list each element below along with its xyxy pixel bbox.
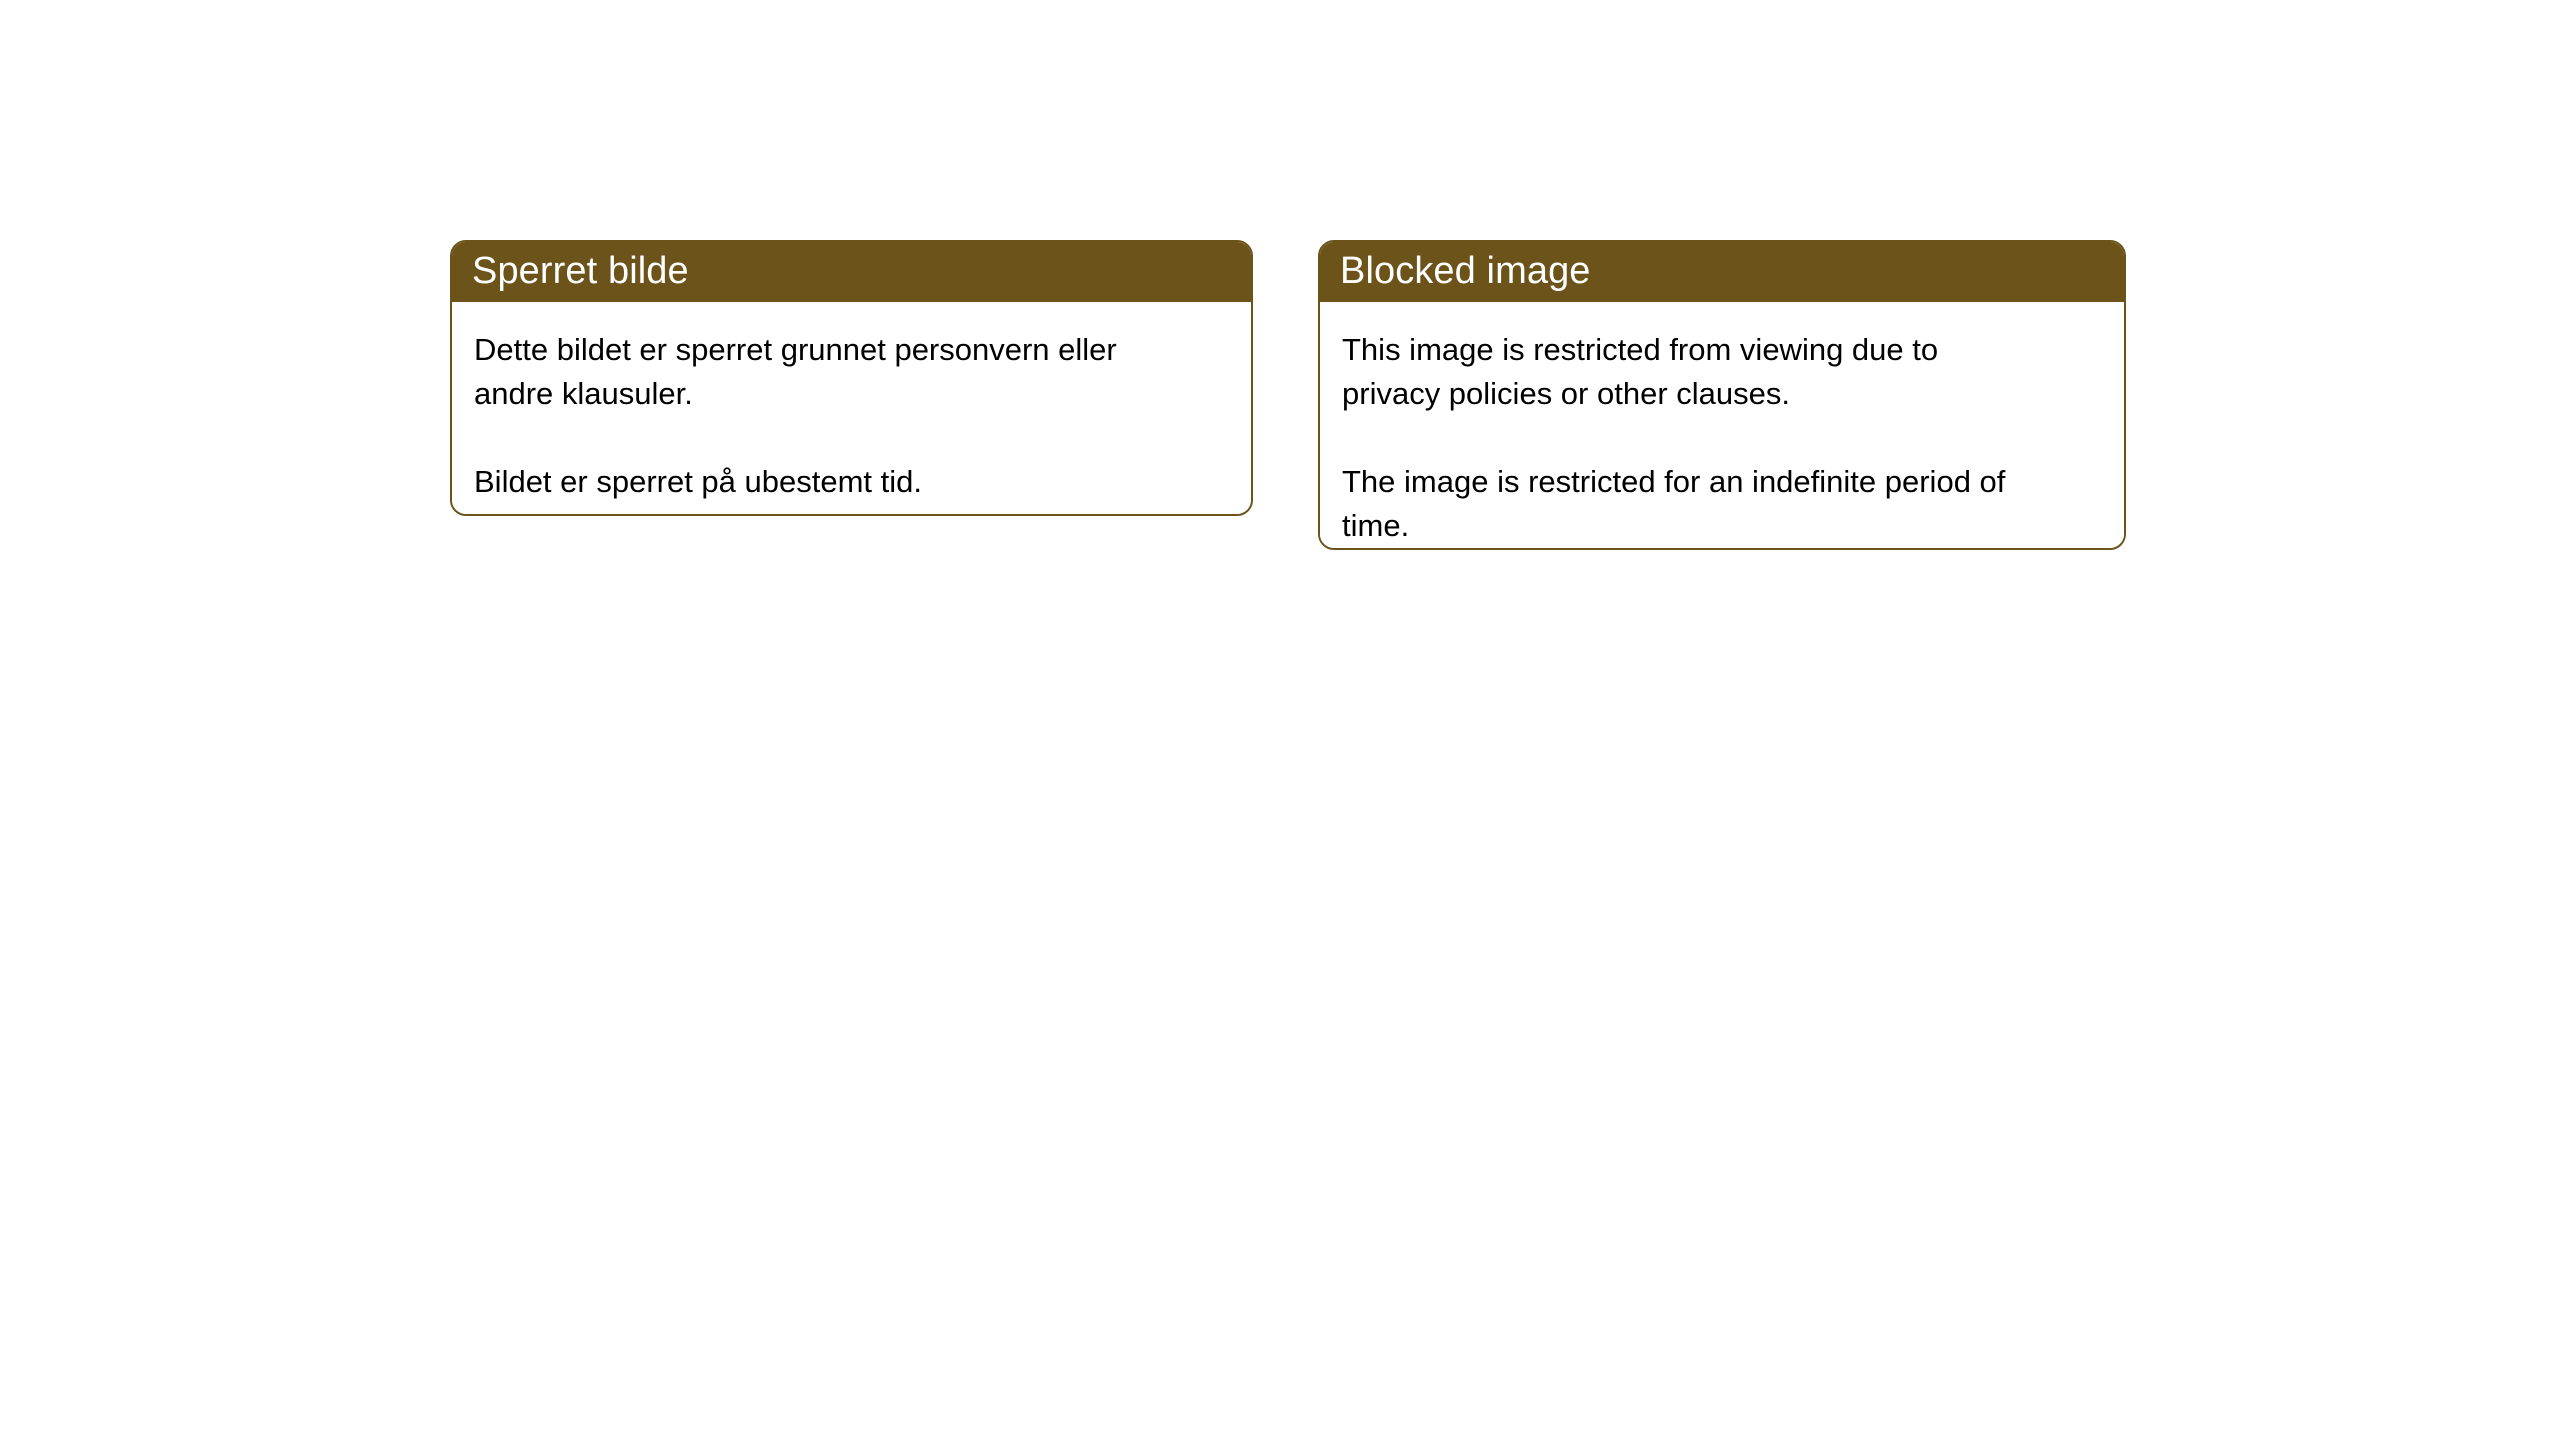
page-canvas: Sperret bilde Dette bildet er sperret gr… [0,0,2560,1440]
card-paragraph: This image is restricted from viewing du… [1342,328,2042,416]
card-body-en: This image is restricted from viewing du… [1320,302,2124,548]
blocked-image-card-en: Blocked image This image is restricted f… [1318,240,2126,550]
card-paragraph: Dette bildet er sperret grunnet personve… [474,328,1174,416]
card-title-en: Blocked image [1340,252,1591,290]
blocked-image-card-no: Sperret bilde Dette bildet er sperret gr… [450,240,1253,516]
card-header-no: Sperret bilde [450,240,1253,302]
card-title-no: Sperret bilde [472,252,689,290]
blocked-image-notice-deck: Sperret bilde Dette bildet er sperret gr… [450,240,2126,550]
card-paragraph: The image is restricted for an indefinit… [1342,460,2042,548]
card-header-en: Blocked image [1318,240,2126,302]
card-paragraph: Bildet er sperret på ubestemt tid. [474,460,1174,504]
card-body-no: Dette bildet er sperret grunnet personve… [452,302,1251,514]
